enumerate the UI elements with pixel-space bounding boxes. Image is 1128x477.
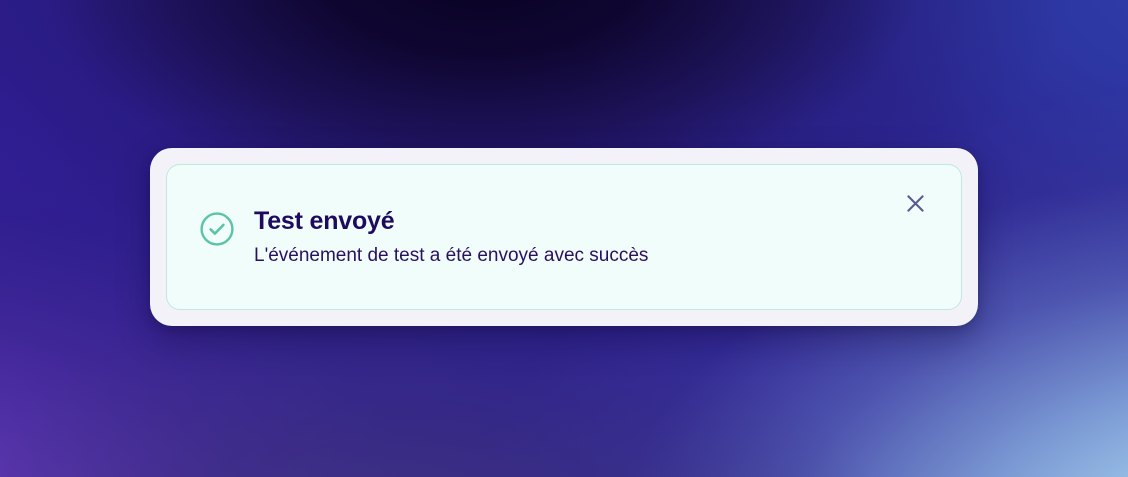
toast-message: L'événement de test a été envoyé avec su… (254, 244, 648, 269)
close-icon (905, 193, 926, 217)
toast-content: Test envoyé L'événement de test a été en… (167, 205, 648, 269)
check-circle-icon (199, 211, 235, 247)
toast-notification: Test envoyé L'événement de test a été en… (150, 148, 978, 326)
toast-text-block: Test envoyé L'événement de test a été en… (254, 207, 648, 269)
toast-success-panel: Test envoyé L'événement de test a été en… (166, 164, 962, 310)
toast-title: Test envoyé (254, 207, 648, 237)
close-button[interactable] (901, 191, 929, 219)
